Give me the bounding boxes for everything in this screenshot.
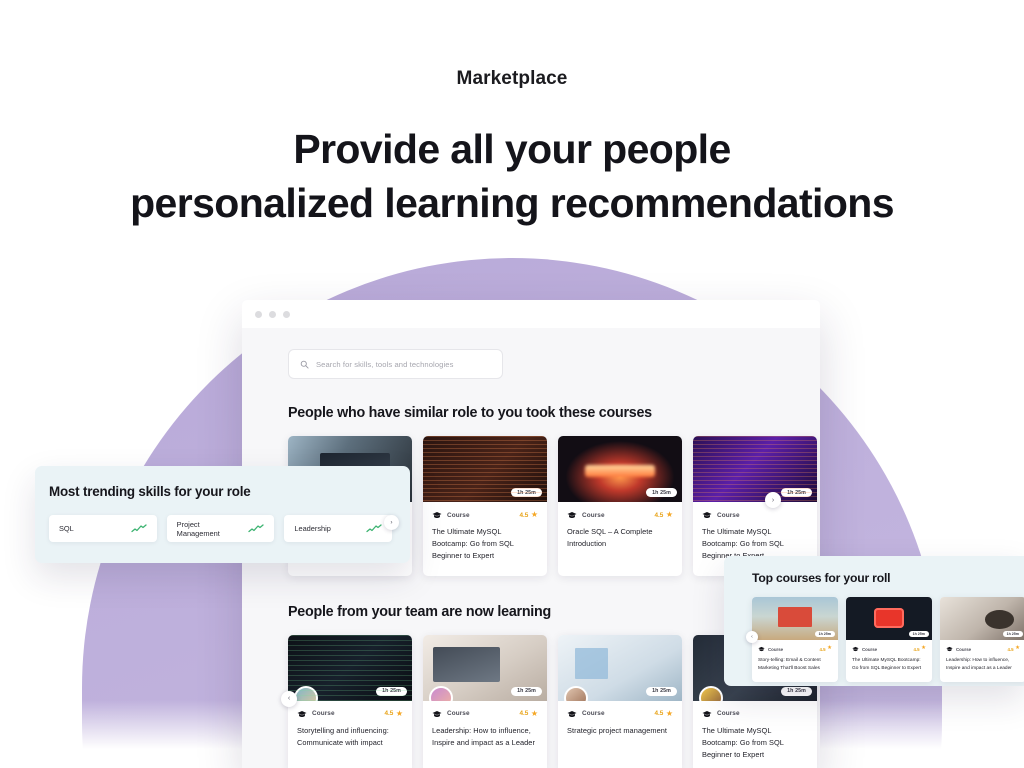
graduation-cap-icon [758,646,765,652]
avatar [699,686,723,701]
duration-badge: 1h 25m [1003,631,1023,637]
page-title: Provide all your people personalized lea… [0,122,1024,230]
course-card[interactable]: 1h 25m Course 4.5 ★ Leadership: How to i… [940,597,1024,682]
skill-chip[interactable]: Leadership [284,515,392,542]
course-card[interactable]: 1h 25m Course 4.5 ★ Oracle SQL – A Compl… [558,436,682,576]
course-thumbnail: 1h 25m [558,635,682,701]
star-icon: ★ [666,511,673,519]
course-rating: 4.5 ★ [654,710,673,718]
course-thumbnail: 1h 25m [940,597,1024,640]
star-icon: ★ [666,710,673,718]
course-type-label: Course [312,710,335,717]
star-icon: ★ [921,646,926,652]
skill-chip-wrap: Project Management [167,515,275,542]
skill-chip-wrap: SQL [49,515,157,542]
star-icon: ★ [531,511,538,519]
graduation-cap-icon [297,710,307,718]
window-minimize-dot-icon[interactable] [269,311,276,318]
course-title: The Ultimate MySQL Bootcamp: Go from SQL… [693,718,817,761]
course-rating: 4.5 ★ [1007,646,1020,652]
avatar [294,686,318,701]
duration-badge: 1h 25m [781,687,812,696]
search-placeholder: Search for skills, tools and technologie… [316,360,453,369]
course-rating: 4.5 ★ [384,710,403,718]
skill-chip-wrap: Leadership › [284,515,392,542]
rating-value: 4.5 [913,647,919,652]
course-type-label: Course [447,512,470,519]
section-team-learning: People from your team are now learning 1… [288,604,774,768]
course-type-label: Course [956,647,971,652]
course-card[interactable]: 1h 25m Course The Ultimate MySQL Bootcam… [693,436,817,576]
skills-next-button[interactable]: › [384,515,399,530]
star-icon: ★ [827,646,832,652]
star-icon: ★ [396,710,403,718]
search-input[interactable]: Search for skills, tools and technologie… [288,349,503,379]
rating-value: 4.5 [519,710,528,717]
course-rating: 4.5 ★ [519,511,538,519]
section-title-similar-role: People who have similar role to you took… [288,405,774,421]
course-meta: Course 4.5 ★ [288,701,412,718]
course-meta: Course 4.5 ★ [558,701,682,718]
rating-value: 4.5 [654,512,663,519]
trending-skills-card: Most trending skills for your role SQL P… [35,466,410,563]
window-close-dot-icon[interactable] [255,311,262,318]
course-thumbnail: 1h 25m [846,597,932,640]
hero-section: Marketplace Provide all your people pers… [0,0,1024,230]
graduation-cap-icon [567,710,577,718]
course-card[interactable]: 1h 25m Course 4.5 ★ The Ultimate MySQL B… [423,436,547,576]
trending-skills-title: Most trending skills for your role [49,484,392,499]
graduation-cap-icon [432,710,442,718]
trend-up-icon [366,524,382,533]
star-icon: ★ [531,710,538,718]
duration-badge: 1h 25m [511,687,542,696]
course-card[interactable]: 1h 25m Course 4.5 ★ Storytelling and inf… [288,635,412,768]
course-rating: 4.5 ★ [654,511,673,519]
course-rating: 4.5 ★ [913,646,926,652]
trend-up-icon [248,524,264,533]
skill-label: Leadership [294,524,331,533]
course-meta: Course [693,701,817,718]
carousel-next-button[interactable]: › [765,492,781,508]
course-thumbnail: 1h 25m [752,597,838,640]
course-type-label: Course [862,647,877,652]
course-card[interactable]: 1h 25m Course 4.5 ★ Leadership: How to i… [423,635,547,768]
avatar [429,686,453,701]
duration-badge: 1h 25m [909,631,929,637]
section-title-team-learning: People from your team are now learning [288,604,774,620]
course-type-label: Course [717,710,740,717]
course-title: The Ultimate MySQL Bootcamp: Go from SQL… [846,652,932,673]
course-title: Story-telling: Email & Content Marketing… [752,652,838,673]
trending-skills-list: SQL Project Management Leadership [49,515,392,542]
window-maximize-dot-icon[interactable] [283,311,290,318]
graduation-cap-icon [702,710,712,718]
course-meta: Course 4.5 ★ [423,502,547,519]
course-rating: 4.5 ★ [819,646,832,652]
course-meta: Course 4.5 ★ [423,701,547,718]
trend-up-icon [131,524,147,533]
graduation-cap-icon [946,646,953,652]
course-thumbnail: 1h 25m [423,436,547,502]
skill-label: Project Management [177,520,243,538]
course-type-label: Course [717,512,740,519]
duration-badge: 1h 25m [511,488,542,497]
rating-value: 4.5 [519,512,528,519]
graduation-cap-icon [432,511,442,519]
star-icon: ★ [1015,646,1020,652]
duration-badge: 1h 25m [646,687,677,696]
course-meta: Course 4.5 ★ [558,502,682,519]
skill-label: SQL [59,524,74,533]
headline-line-2: personalized learning recommendations [0,176,1024,230]
course-card[interactable]: 1h 25m Course 4.5 ★ The Ultimate MySQL B… [846,597,932,682]
rating-value: 4.5 [654,710,663,717]
course-title: Oracle SQL – A Complete Introduction [558,519,682,550]
course-title: Strategic project management [558,718,682,737]
duration-badge: 1h 25m [376,687,407,696]
top-courses-rail[interactable]: 1h 25m Course 4.5 ★ Story-telling: Email… [752,597,1024,682]
course-type-label: Course [447,710,470,717]
top-courses-title: Top courses for your roll [752,571,1024,585]
avatar [564,686,588,701]
course-card[interactable]: 1h 25m Course 4.5 ★ Strategic project ma… [558,635,682,768]
search-icon [300,360,309,369]
rating-value: 4.5 [1007,647,1013,652]
course-meta: Course 4.5 ★ [846,640,932,652]
course-thumbnail: 1h 25m [558,436,682,502]
course-meta: Course [693,502,817,519]
course-card[interactable]: 1h 25m Course 4.5 ★ Story-telling: Email… [752,597,838,682]
course-thumbnail: 1h 25m [288,635,412,701]
course-type-label: Course [582,512,605,519]
course-type-label: Course [768,647,783,652]
skill-chip[interactable]: Project Management [167,515,275,542]
graduation-cap-icon [567,511,577,519]
top-courses-card: Top courses for your roll 1h 25m Course … [724,556,1024,686]
course-type-label: Course [582,710,605,717]
course-meta: Course 4.5 ★ [940,640,1024,652]
graduation-cap-icon [852,646,859,652]
headline-line-1: Provide all your people [0,122,1024,176]
browser-titlebar [242,300,820,328]
top-courses-prev-button[interactable]: ‹ [746,631,758,643]
course-rail-team-learning[interactable]: 1h 25m Course 4.5 ★ Storytelling and inf… [288,635,774,768]
course-rating: 4.5 ★ [519,710,538,718]
rating-value: 4.5 [819,647,825,652]
duration-badge: 1h 25m [815,631,835,637]
course-thumbnail: 1h 25m [423,635,547,701]
course-meta: Course 4.5 ★ [752,640,838,652]
graduation-cap-icon [702,511,712,519]
duration-badge: 1h 25m [646,488,677,497]
skill-chip[interactable]: SQL [49,515,157,542]
page-eyebrow: Marketplace [0,68,1024,90]
course-title: Storytelling and influencing: Communicat… [288,718,412,749]
rating-value: 4.5 [384,710,393,717]
course-title: Leadership: How to influence, Inspire an… [423,718,547,749]
course-title: Leadership: How to influence, Inspire an… [940,652,1024,673]
duration-badge: 1h 25m [781,488,812,497]
course-thumbnail: 1h 25m [693,436,817,502]
course-title: The Ultimate MySQL Bootcamp: Go from SQL… [423,519,547,562]
carousel-prev-button[interactable]: ‹ [281,691,297,707]
